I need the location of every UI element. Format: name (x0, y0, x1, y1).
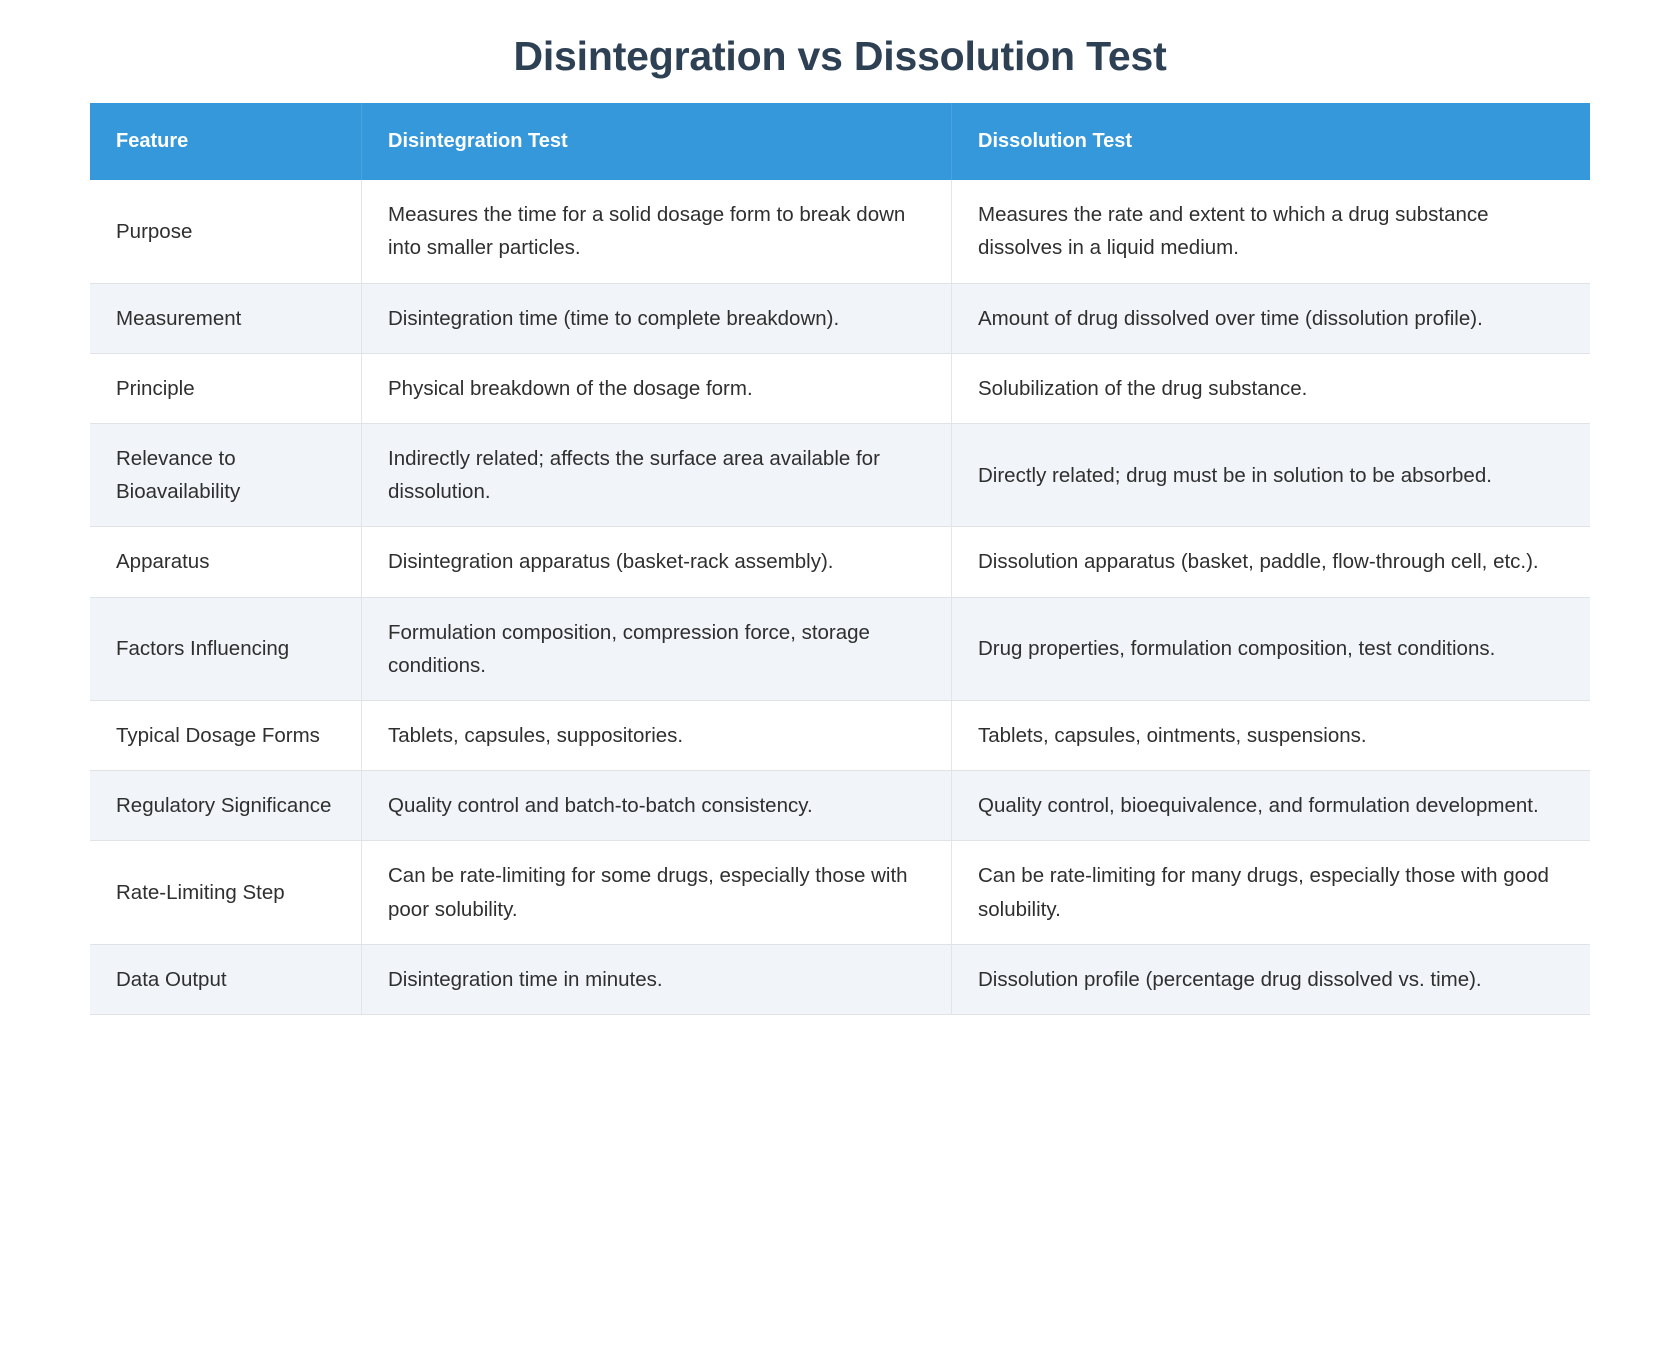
cell-disintegration: Indirectly related; affects the surface … (362, 424, 952, 527)
cell-feature: Typical Dosage Forms (90, 701, 362, 771)
cell-dissolution: Tablets, capsules, ointments, suspension… (952, 701, 1590, 771)
cell-dissolution: Drug properties, formulation composition… (952, 598, 1590, 701)
cell-feature: Regulatory Significance (90, 771, 362, 841)
cell-feature: Apparatus (90, 527, 362, 597)
column-header-disintegration-test: Disintegration Test (362, 103, 952, 180)
table-body: Purpose Measures the time for a solid do… (90, 180, 1590, 1015)
cell-dissolution: Can be rate-limiting for many drugs, esp… (952, 841, 1590, 944)
cell-feature: Rate-Limiting Step (90, 841, 362, 944)
cell-dissolution: Measures the rate and extent to which a … (952, 180, 1590, 283)
column-header-dissolution-test: Dissolution Test (952, 103, 1590, 180)
cell-dissolution: Amount of drug dissolved over time (diss… (952, 284, 1590, 354)
cell-disintegration: Quality control and batch-to-batch consi… (362, 771, 952, 841)
table-header: Feature Disintegration Test Dissolution … (90, 103, 1590, 180)
cell-disintegration: Disintegration apparatus (basket-rack as… (362, 527, 952, 597)
cell-disintegration: Formulation composition, compression for… (362, 598, 952, 701)
comparison-table-container: Feature Disintegration Test Dissolution … (90, 80, 1590, 1015)
cell-disintegration: Physical breakdown of the dosage form. (362, 354, 952, 424)
comparison-table: Feature Disintegration Test Dissolution … (90, 103, 1590, 1015)
table-row: Factors Influencing Formulation composit… (90, 598, 1590, 701)
cell-feature: Factors Influencing (90, 598, 362, 701)
cell-dissolution: Directly related; drug must be in soluti… (952, 424, 1590, 527)
cell-dissolution: Quality control, bioequivalence, and for… (952, 771, 1590, 841)
cell-dissolution: Dissolution profile (percentage drug dis… (952, 945, 1590, 1015)
table-row: Apparatus Disintegration apparatus (bask… (90, 527, 1590, 597)
cell-disintegration: Disintegration time (time to complete br… (362, 284, 952, 354)
cell-feature: Purpose (90, 180, 362, 283)
table-row: Regulatory Significance Quality control … (90, 771, 1590, 841)
column-header-feature: Feature (90, 103, 362, 180)
cell-disintegration: Measures the time for a solid dosage for… (362, 180, 952, 283)
table-row: Typical Dosage Forms Tablets, capsules, … (90, 701, 1590, 771)
cell-dissolution: Dissolution apparatus (basket, paddle, f… (952, 527, 1590, 597)
cell-dissolution: Solubilization of the drug substance. (952, 354, 1590, 424)
table-row: Purpose Measures the time for a solid do… (90, 180, 1590, 283)
table-row: Relevance to Bioavailability Indirectly … (90, 424, 1590, 527)
table-row: Data Output Disintegration time in minut… (90, 945, 1590, 1015)
cell-feature: Principle (90, 354, 362, 424)
table-header-row: Feature Disintegration Test Dissolution … (90, 103, 1590, 180)
page-title: Disintegration vs Dissolution Test (0, 0, 1680, 80)
cell-disintegration: Disintegration time in minutes. (362, 945, 952, 1015)
cell-feature: Data Output (90, 945, 362, 1015)
cell-disintegration: Tablets, capsules, suppositories. (362, 701, 952, 771)
table-row: Measurement Disintegration time (time to… (90, 284, 1590, 354)
table-row: Principle Physical breakdown of the dosa… (90, 354, 1590, 424)
cell-feature: Relevance to Bioavailability (90, 424, 362, 527)
cell-feature: Measurement (90, 284, 362, 354)
cell-disintegration: Can be rate-limiting for some drugs, esp… (362, 841, 952, 944)
page-root: Disintegration vs Dissolution Test Featu… (0, 0, 1680, 1346)
table-row: Rate-Limiting Step Can be rate-limiting … (90, 841, 1590, 944)
